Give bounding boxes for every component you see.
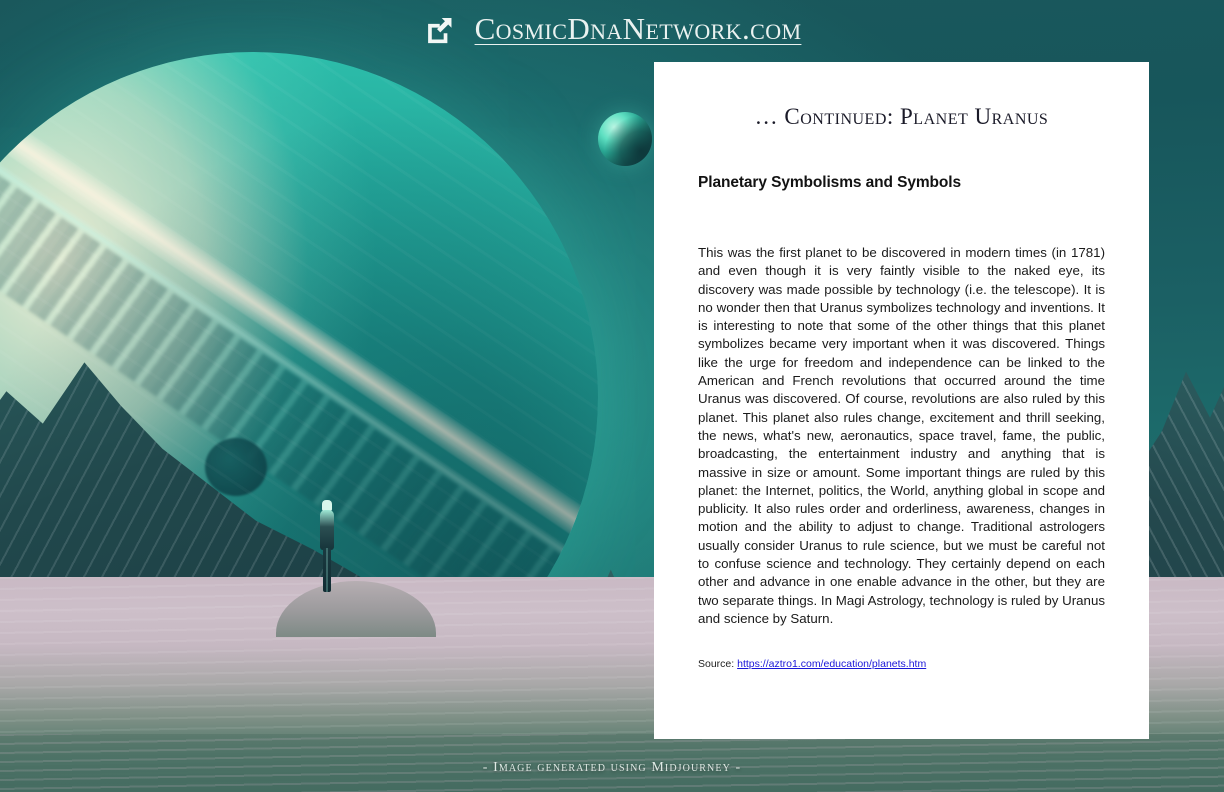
astronaut-legs <box>323 548 331 592</box>
astronaut-torso <box>320 510 334 550</box>
plain-foreground-band <box>0 734 1224 792</box>
external-link-icon[interactable] <box>423 12 457 46</box>
article-body-text: This was the first planet to be discover… <box>698 244 1105 628</box>
source-label: Source: <box>698 658 734 670</box>
section-heading: Planetary Symbolisms and Symbols <box>698 174 1105 192</box>
page-title: … Continued: Planet Uranus <box>698 104 1105 130</box>
source-url-link[interactable]: https://aztro1.com/education/planets.htm <box>737 658 926 670</box>
page-root: CosmicDnaNetwork.com … Continued: Planet… <box>0 0 1224 792</box>
site-title-link[interactable]: CosmicDnaNetwork.com <box>475 11 802 47</box>
source-line: Source: https://aztro1.com/education/pla… <box>698 658 1105 670</box>
astronaut-figure <box>318 500 336 592</box>
site-header: CosmicDnaNetwork.com <box>0 0 1224 58</box>
moon <box>598 112 652 166</box>
article-card: … Continued: Planet Uranus Planetary Sym… <box>654 62 1149 739</box>
